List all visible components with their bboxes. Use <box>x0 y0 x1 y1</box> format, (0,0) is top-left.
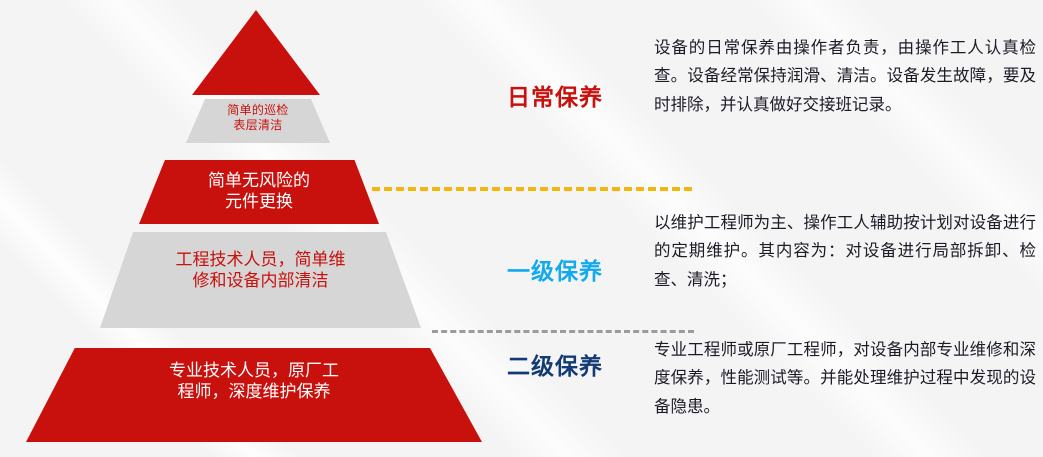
level-description-secondary-maintenance: 专业工程师或原厂工程师，对设备内部专业维修和深度保养，性能测试等。并能处理维护过… <box>654 336 1036 421</box>
pyramid-tier-4-shape <box>100 232 421 328</box>
level-title-daily-maintenance: 日常保养 <box>507 78 603 112</box>
pyramid-tier-2-shape <box>186 99 330 143</box>
level-description-daily-maintenance: 设备的日常保养由操作者负责，由操作工人认真检查。设备经常保持润滑、清洁。设备发生… <box>654 34 1036 119</box>
pyramid-tier-3-shape <box>139 160 379 224</box>
level-title-secondary-maintenance: 二级保养 <box>507 347 603 381</box>
pyramid-tier-1-apex <box>192 10 320 95</box>
connector-line-secondary <box>432 330 694 333</box>
diagram-canvas: 简单的巡检 表层清洁 简单无风险的 元件更换 工程技术人员，简单维 修和设备内部… <box>0 0 1043 457</box>
level-title-primary-maintenance: 一级保养 <box>507 252 603 286</box>
maintenance-pyramid: 简单的巡检 表层清洁 简单无风险的 元件更换 工程技术人员，简单维 修和设备内部… <box>0 0 620 457</box>
level-description-primary-maintenance: 以维护工程师为主、操作工人辅助按计划对设备进行的定期维护。其内容为：对设备进行局… <box>654 209 1036 294</box>
pyramid-tier-5-shape <box>26 348 482 442</box>
connector-line-daily <box>372 187 692 191</box>
